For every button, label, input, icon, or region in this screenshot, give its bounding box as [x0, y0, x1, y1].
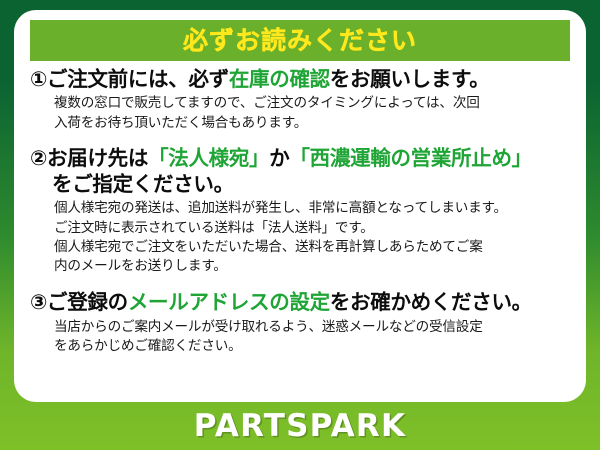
header-title: 必ずお読みください — [183, 28, 417, 53]
item-3-heading-part-1: ③ご登録の — [30, 290, 128, 314]
notice-item-2-body: 個人様宅宛の発送は、追加送料が発生し、非常に高額となってしまいます。 ご注文時に… — [54, 199, 572, 276]
item-2-body-line-4: 内のメールをお送りします。 — [54, 257, 572, 276]
notice-item-1-body: 複数の窓口で販売してますので、ご注文のタイミングによっては、次回 入荷をお待ち頂… — [54, 94, 572, 133]
brand-logo: PARTSPARK — [194, 411, 406, 442]
item-1-body-line-2: 入荷をお待ち頂いただく場合もあります。 — [54, 114, 572, 133]
item-2-heading-part-3: か — [269, 146, 289, 170]
item-1-body-line-1: 複数の窓口で販売してますので、ご注文のタイミングによっては、次回 — [54, 94, 572, 113]
notice-item-3-heading: ③ご登録のメールアドレスの設定をお確かめください。 — [30, 289, 572, 315]
item-2-heading-highlight-1: 「法人様宛」 — [148, 146, 269, 170]
item-3-body-line-2: をあらかじめご確認ください。 — [54, 337, 572, 356]
notice-item-1-heading: ①ご注文前には、必ず在庫の確認をお願いします。 — [30, 66, 572, 92]
notice-item-2: ②お届け先は「法人様宛」か「西濃運輸の営業所止め」 をご指定ください。 個人様宅… — [30, 145, 572, 277]
item-3-heading-highlight: メールアドレスの設定 — [128, 290, 330, 314]
item-3-heading-part-3: をお確かめください。 — [330, 290, 532, 314]
item-1-heading-part-3: をお願いします。 — [330, 67, 490, 91]
notice-item-1: ①ご注文前には、必ず在庫の確認をお願いします。 複数の窓口で販売してますので、ご… — [30, 66, 572, 133]
item-1-heading-highlight: 在庫の確認 — [229, 67, 330, 91]
item-1-heading-part-1: ①ご注文前には、必ず — [30, 67, 229, 91]
notice-item-2-heading-line2: をご指定ください。 — [52, 171, 572, 197]
item-3-body-line-1: 当店からのご案内メールが受け取れるよう、迷惑メールなどの受信設定 — [54, 318, 572, 337]
notice-item-3-body: 当店からのご案内メールが受け取れるよう、迷惑メールなどの受信設定 をあらかじめご… — [54, 318, 572, 357]
notice-content: ①ご注文前には、必ず在庫の確認をお願いします。 複数の窓口で販売してますので、ご… — [14, 66, 586, 358]
item-2-heading-highlight-2: 「西濃運輸の営業所止め」 — [289, 146, 531, 170]
notice-panel: 必ずお読みください ①ご注文前には、必ず在庫の確認をお願いします。 複数の窓口で… — [14, 10, 586, 402]
notice-frame: 必ずお読みください ①ご注文前には、必ず在庫の確認をお願いします。 複数の窓口で… — [0, 0, 600, 450]
notice-item-3: ③ご登録のメールアドレスの設定をお確かめください。 当店からのご案内メールが受け… — [30, 289, 572, 356]
notice-item-2-heading: ②お届け先は「法人様宛」か「西濃運輸の営業所止め」 — [30, 145, 572, 171]
item-2-body-line-3: 個人様宅宛でご注文をいただいた場合、送料を再計算しあらためてご案 — [54, 238, 572, 257]
footer-bar: PARTSPARK — [0, 402, 600, 450]
item-2-body-line-2: ご注文時に表示されている送料は「法人送料」です。 — [54, 219, 572, 238]
header-banner: 必ずお読みください — [30, 20, 570, 61]
item-2-heading-part-1: ②お届け先は — [30, 146, 148, 170]
item-2-body-line-1: 個人様宅宛の発送は、追加送料が発生し、非常に高額となってしまいます。 — [54, 199, 572, 218]
